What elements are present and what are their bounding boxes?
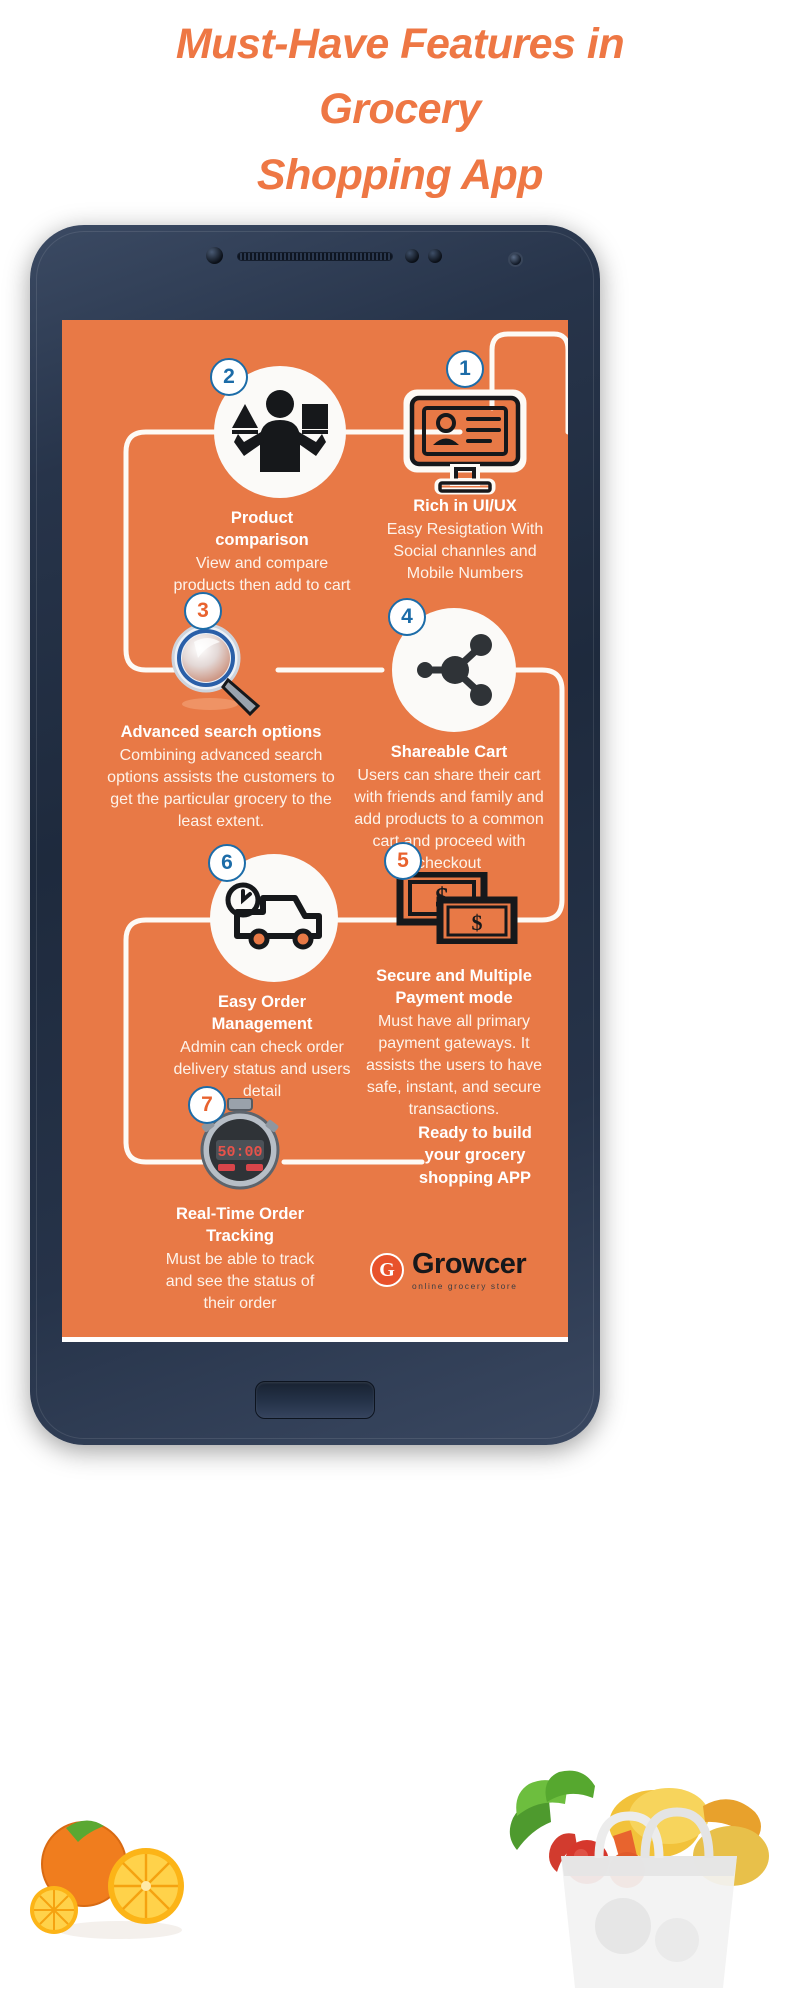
phone-front-camera-icon	[206, 247, 223, 264]
growcer-logo[interactable]: G Growcer online grocery store	[370, 1250, 526, 1290]
feature-1-number: 1	[459, 357, 471, 381]
feature-1-badge: 1	[446, 350, 484, 388]
cta-line-3: shopping APP	[392, 1167, 558, 1189]
screen-bottom-border	[62, 1337, 568, 1342]
title-line-1: Must-Have Features in	[70, 12, 730, 77]
cta-line-2: your grocery	[392, 1144, 558, 1166]
feature-2[interactable]: 2 Product comparison View and compare pr…	[162, 352, 362, 597]
feature-5[interactable]: 5 $ $ Secure and Multiple Payment mode M…	[348, 842, 560, 1120]
cta-line-1: Ready to build	[392, 1122, 558, 1144]
feature-7[interactable]: 7 50:00 Real-Time Order Tracking Must be…	[140, 1086, 340, 1315]
feature-6-title: Easy Order Management	[160, 992, 364, 1036]
feature-2-desc: View and compare products then add to ca…	[162, 553, 362, 597]
share-nodes-icon	[411, 630, 497, 710]
magnifying-glass-icon	[166, 620, 270, 718]
oranges-decoration-icon	[28, 1798, 203, 1943]
feature-1-title: Rich in UI/UX	[362, 496, 568, 518]
phone-speaker-grill	[237, 252, 393, 261]
feature-5-badge: 5	[384, 842, 422, 880]
phone-sensor-a-icon	[405, 249, 419, 263]
cta-text: Ready to build your grocery shopping APP	[392, 1122, 558, 1189]
feature-5-desc: Must have all primary payment gateways. …	[348, 1011, 560, 1121]
feature-7-number: 7	[201, 1093, 213, 1117]
feature-7-desc: Must be able to track and see the status…	[140, 1249, 340, 1315]
feature-1-desc: Easy Resigtation With Social channles an…	[362, 519, 568, 585]
feature-3-desc: Combining advanced search options assist…	[100, 745, 342, 833]
growcer-logo-tagline: online grocery store	[412, 1282, 526, 1290]
title-line-2: Grocery	[70, 77, 730, 142]
feature-3-number: 3	[197, 599, 209, 623]
feature-2-number: 2	[223, 365, 235, 389]
feature-4[interactable]: 4 Shareable Cart Users can share their c…	[340, 598, 558, 874]
feature-3-badge: 3	[184, 592, 222, 630]
growcer-logo-text: Growcer online grocery store	[412, 1250, 526, 1290]
feature-4-title: Shareable Cart	[340, 742, 558, 764]
feature-6-badge: 6	[208, 844, 246, 882]
banknotes-dollar-icon: $ $	[396, 872, 518, 944]
feature-7-badge: 7	[188, 1086, 226, 1124]
page-title: Must-Have Features in Grocery Shopping A…	[0, 0, 800, 208]
feature-7-title: Real-Time Order Tracking	[140, 1204, 340, 1248]
feature-2-badge: 2	[210, 358, 248, 396]
phone-sensor-b-icon	[428, 249, 442, 263]
feature-1[interactable]: 1 Rich in UI/UX Easy Resigta	[362, 350, 568, 585]
feature-6[interactable]: 6 Easy Order Management Admin can check …	[160, 844, 364, 1103]
phone-home-button[interactable]	[255, 1381, 375, 1419]
feature-4-badge: 4	[388, 598, 426, 636]
phone-led-icon	[510, 254, 521, 265]
feature-2-title: Product comparison	[162, 508, 362, 552]
monitor-profile-icon	[402, 388, 528, 496]
svg-text:50:00: 50:00	[217, 1144, 262, 1161]
feature-6-number: 6	[221, 851, 233, 875]
svg-text:$: $	[472, 910, 483, 935]
feature-5-number: 5	[397, 849, 409, 873]
feature-4-number: 4	[401, 605, 413, 629]
feature-3[interactable]: 3 Advanced search options Combinin	[100, 592, 342, 833]
title-line-3: Shopping App	[70, 143, 730, 208]
growcer-logo-mark-icon: G	[370, 1253, 404, 1287]
phone-mockup: 1 Rich in UI/UX Easy Resigta	[30, 225, 600, 1445]
grocery-bag-decoration-icon	[455, 1760, 785, 1990]
feature-3-title: Advanced search options	[100, 722, 342, 744]
feature-5-title: Secure and Multiple Payment mode	[348, 966, 560, 1010]
growcer-logo-name: Growcer	[412, 1250, 526, 1279]
infographic-screen: 1 Rich in UI/UX Easy Resigta	[62, 320, 568, 1337]
delivery-truck-icon	[223, 882, 325, 954]
person-comparing-shapes-icon	[228, 384, 332, 480]
